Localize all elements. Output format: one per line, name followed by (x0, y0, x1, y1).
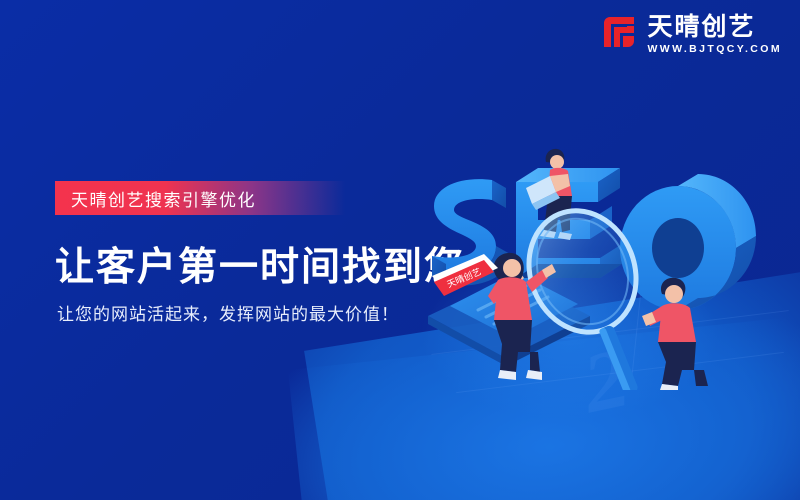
tianqing-logo-icon (601, 14, 637, 50)
logo-website-url: WWW.BJTQCY.COM (647, 43, 782, 55)
page-title: 让客户第一时间找到您 (55, 236, 465, 292)
logo-company-name: 天晴创艺 (647, 14, 755, 40)
seo-letter-o (620, 174, 756, 310)
brand-logo[interactable]: 天晴创艺 WWW.BJTQCY.COM (601, 14, 782, 55)
seo-hero-banner: 2 天晴创艺 WWW.BJTQCY.COM 天晴创艺搜索引擎优化 让客户第一时间… (0, 0, 800, 500)
tagline-text: 天晴创艺搜索引擎优化 (71, 186, 256, 211)
seo-illustration: 天晴创艺 (420, 120, 800, 390)
tagline-banner: 天晴创艺搜索引擎优化 (55, 181, 345, 215)
page-subtitle: 让您的网站活起来，发挥网站的最大价值！ (57, 300, 399, 325)
seo-illustration-svg: 天晴创艺 (420, 120, 800, 390)
